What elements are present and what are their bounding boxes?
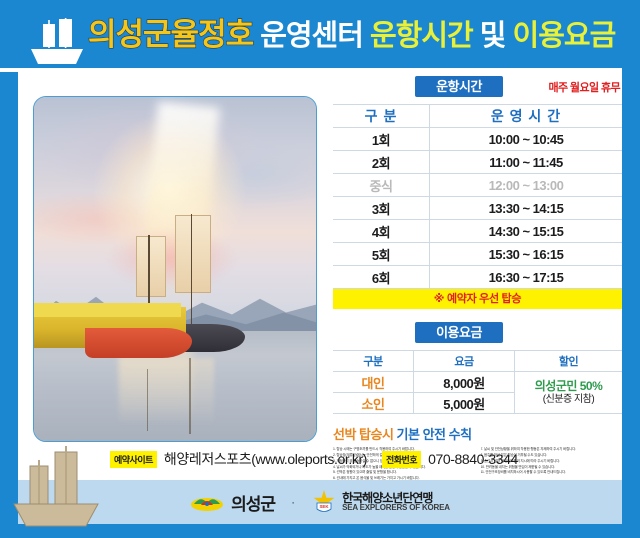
closed-day-note: 매주 월요일 휴무 — [548, 79, 620, 95]
schedule-time: 10:00 ~ 10:45 — [430, 128, 623, 151]
sek-logo: SEK 한국해양소년단연맹 SEA EXPLORERS OF KOREA — [311, 489, 450, 515]
safety-heading-orange: 선박 탑승시 — [333, 427, 393, 442]
footer-separator: · — [291, 495, 295, 509]
priority-boarding-notice: ※ 예약자 우선 탑승 — [333, 289, 622, 309]
sek-name-en: SEA EXPLORERS OF KOREA — [342, 504, 450, 512]
table-row: 2회 11:00 ~ 11:45 — [333, 151, 622, 174]
schedule-time: 11:00 ~ 11:45 — [430, 151, 623, 174]
fare-col-discount: 할인 — [515, 351, 623, 372]
safety-heading-blue: 기본 안전 수칙 — [397, 427, 472, 442]
fare-label: 대인 — [333, 372, 414, 393]
fare-section: 이용요금 구분 요금 할인 대인 8,000원 의성군민 50% — [333, 322, 622, 414]
photo-reflection-mast-b — [189, 358, 191, 434]
fare-header-row: 이용요금 — [333, 322, 622, 346]
schedule-col-time: 운 영 시 간 — [430, 105, 623, 128]
schedule-badge: 운항시간 — [415, 76, 503, 97]
schedule-time: 16:30 ~ 17:15 — [430, 266, 623, 289]
schedule-time: 12:00 ~ 13:00 — [430, 174, 623, 197]
photo-canvas — [34, 97, 316, 441]
fare-label: 소인 — [333, 393, 414, 414]
fare-price: 8,000원 — [414, 372, 515, 393]
boat-photo — [33, 96, 317, 442]
table-row: 중식 12:00 ~ 13:00 — [333, 174, 622, 197]
fare-table: 구분 요금 할인 대인 8,000원 의성군민 50% (신분증 지참) — [333, 350, 622, 414]
sea-explorers-korea-mark: SEK — [311, 489, 337, 515]
booking-bar: 예약사이트 해양레저스포츠(www.oleports.or.kr) 전화번호 0… — [110, 449, 530, 469]
title-part-2: 운항시간 — [370, 20, 473, 52]
schedule-table: 구 분 운 영 시 간 1회 10:00 ~ 10:45 2회 11:00 ~ … — [333, 104, 622, 289]
fare-price: 5,000원 — [414, 393, 515, 414]
schedule-label: 2회 — [333, 151, 430, 174]
discount-sub: (신분증 지참) — [515, 394, 622, 406]
poster-root: 의성군율정호 운영센터 운항시간 및 이용요금 — [0, 0, 640, 538]
fare-discount-cell: 의성군민 50% (신분증 지참) — [515, 372, 623, 414]
page-title: 의성군율정호 운영센터 운항시간 및 이용요금 — [88, 14, 615, 57]
table-row: 1회 10:00 ~ 10:45 — [333, 128, 622, 151]
poster-header: 의성군율정호 운영센터 운항시간 및 이용요금 — [0, 0, 640, 68]
schedule-header-row: 운항시간 매주 월요일 휴무 — [333, 76, 622, 100]
table-row: 대인 8,000원 의성군민 50% (신분증 지참) — [333, 372, 622, 393]
photo-dock-rail — [34, 303, 181, 317]
schedule-label: 5회 — [333, 243, 430, 266]
schedule-time: 14:30 ~ 15:15 — [430, 220, 623, 243]
sek-text: 한국해양소년단연맹 SEA EXPLORERS OF KOREA — [342, 492, 450, 513]
photo-reflection — [119, 358, 215, 434]
photo-reflection-mast-a — [147, 369, 149, 431]
uiseong-logo: 의성군 — [190, 490, 275, 515]
table-row: 4회 14:30 ~ 15:15 — [333, 220, 622, 243]
photo-boat-mast-b — [191, 214, 193, 324]
table-row: 6회 16:30 ~ 17:15 — [333, 266, 622, 289]
photo-boat-sail-b — [175, 215, 211, 293]
schedule-label: 3회 — [333, 197, 430, 220]
title-part-3: 및 — [480, 20, 506, 52]
booking-site-value[interactable]: 해양레저스포츠(www.oleports.or.kr) — [164, 449, 367, 469]
fare-header: 구분 요금 할인 — [333, 351, 622, 372]
photo-pink-cloud — [107, 228, 237, 290]
schedule-label: 1회 — [333, 128, 430, 151]
schedule-time: 15:30 ~ 16:15 — [430, 243, 623, 266]
uiseong-county-mark — [190, 492, 224, 513]
safety-heading: 선박 탑승시 기본 안전 수칙 — [333, 424, 622, 443]
schedule-col-label: 구 분 — [333, 105, 430, 128]
schedule-label: 중식 — [333, 174, 430, 197]
table-row: 3회 13:30 ~ 14:15 — [333, 197, 622, 220]
schedule-label: 4회 — [333, 220, 430, 243]
photo-boat-sail-a — [136, 236, 166, 296]
schedule-label: 6회 — [333, 266, 430, 289]
info-column: 운항시간 매주 월요일 휴무 구 분 운 영 시 간 1회 10:00 ~ 10… — [333, 76, 622, 482]
title-part-0: 의성군율정호 — [88, 17, 253, 52]
list-item: 11. 안전구조장비를 비치하시어 사용할 수 있도록 안내드립니다. — [481, 470, 623, 476]
table-row: 5회 15:30 ~ 16:15 — [333, 243, 622, 266]
title-part-4: 이용요금 — [513, 20, 616, 52]
fare-badge: 이용요금 — [415, 322, 503, 343]
title-part-1: 운영센터 — [260, 20, 363, 52]
booking-site-tag: 예약사이트 — [110, 451, 157, 468]
fare-col-price: 요금 — [414, 351, 515, 372]
bottom-sailing-ship-icon — [12, 440, 108, 532]
svg-text:SEK: SEK — [320, 504, 330, 509]
discount-main: 의성군민 50% — [515, 380, 622, 394]
photo-red-boat — [85, 328, 192, 359]
uiseong-name: 의성군 — [231, 490, 275, 515]
schedule-time: 13:30 ~ 14:15 — [430, 197, 623, 220]
phone-value[interactable]: 070-8840-3344 — [428, 451, 518, 467]
fare-col-label: 구분 — [333, 351, 414, 372]
schedule-header: 구 분 운 영 시 간 — [333, 105, 622, 128]
poster-footer: 의성군 · SEK 한국해양소년단연맹 SEA EXPLORERS OF KOR… — [18, 480, 622, 524]
phone-tag: 전화번호 — [382, 451, 421, 468]
sailing-ship-icon — [26, 18, 88, 66]
